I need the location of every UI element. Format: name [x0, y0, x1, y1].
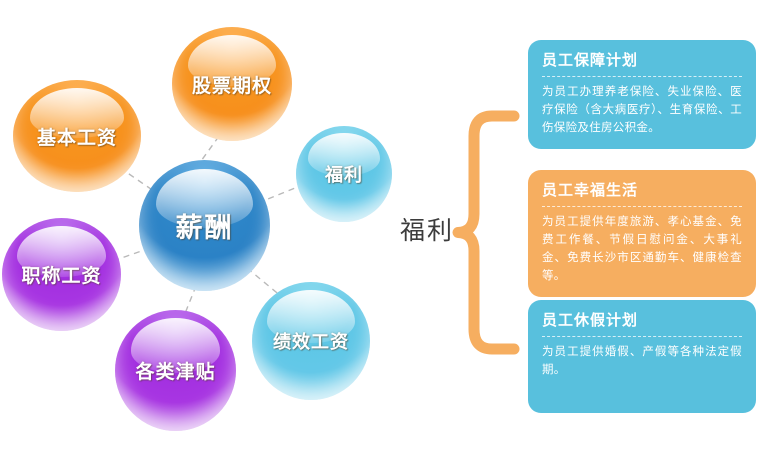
card-employee-vacation-plan[interactable]: 员工休假计划 为员工提供婚假、产假等各种法定假期。	[528, 300, 756, 413]
bubble-title-salary[interactable]: 职称工资	[2, 218, 121, 331]
bubble-label: 各类津贴	[135, 357, 215, 384]
bubble-performance-pay[interactable]: 绩效工资	[252, 282, 370, 400]
card-title: 员工保障计划	[542, 51, 742, 77]
bubble-label: 福利	[325, 161, 363, 187]
card-title: 员工幸福生活	[542, 181, 742, 207]
bubble-label: 基本工资	[37, 123, 117, 150]
bubble-stock-option[interactable]: 股票期权	[172, 27, 292, 141]
bubble-label: 股票期权	[192, 71, 272, 98]
bubble-welfare[interactable]: 福利	[296, 126, 392, 222]
bubble-base-salary[interactable]: 基本工资	[13, 80, 141, 192]
bubble-label: 绩效工资	[273, 328, 349, 354]
card-title: 员工休假计划	[542, 311, 742, 337]
curly-brace-icon	[452, 110, 520, 355]
bubble-allowances[interactable]: 各类津贴	[115, 310, 236, 431]
bubble-label: 薪酬	[176, 206, 234, 245]
salary-benefits-diagram: 基本工资 股票期权 福利 绩效工资 各类津贴 职称工资 薪酬 福利 员工	[0, 0, 770, 453]
card-body: 为员工提供婚假、产假等各种法定假期。	[542, 343, 742, 379]
bubble-label: 职称工资	[21, 261, 101, 288]
card-body: 为员工提供年度旅游、孝心基金、免费工作餐、节假日慰问金、大事礼金、免费长沙市区通…	[542, 213, 742, 285]
card-employee-security-plan[interactable]: 员工保障计划 为员工办理养老保险、失业保险、医疗保险（含大病医疗）、生育保险、工…	[528, 40, 756, 149]
card-employee-happy-life[interactable]: 员工幸福生活 为员工提供年度旅游、孝心基金、免费工作餐、节假日慰问金、大事礼金、…	[528, 170, 756, 297]
bubble-center-compensation[interactable]: 薪酬	[139, 160, 270, 291]
card-body: 为员工办理养老保险、失业保险、医疗保险（含大病医疗）、生育保险、工伤保险及住房公…	[542, 83, 742, 137]
